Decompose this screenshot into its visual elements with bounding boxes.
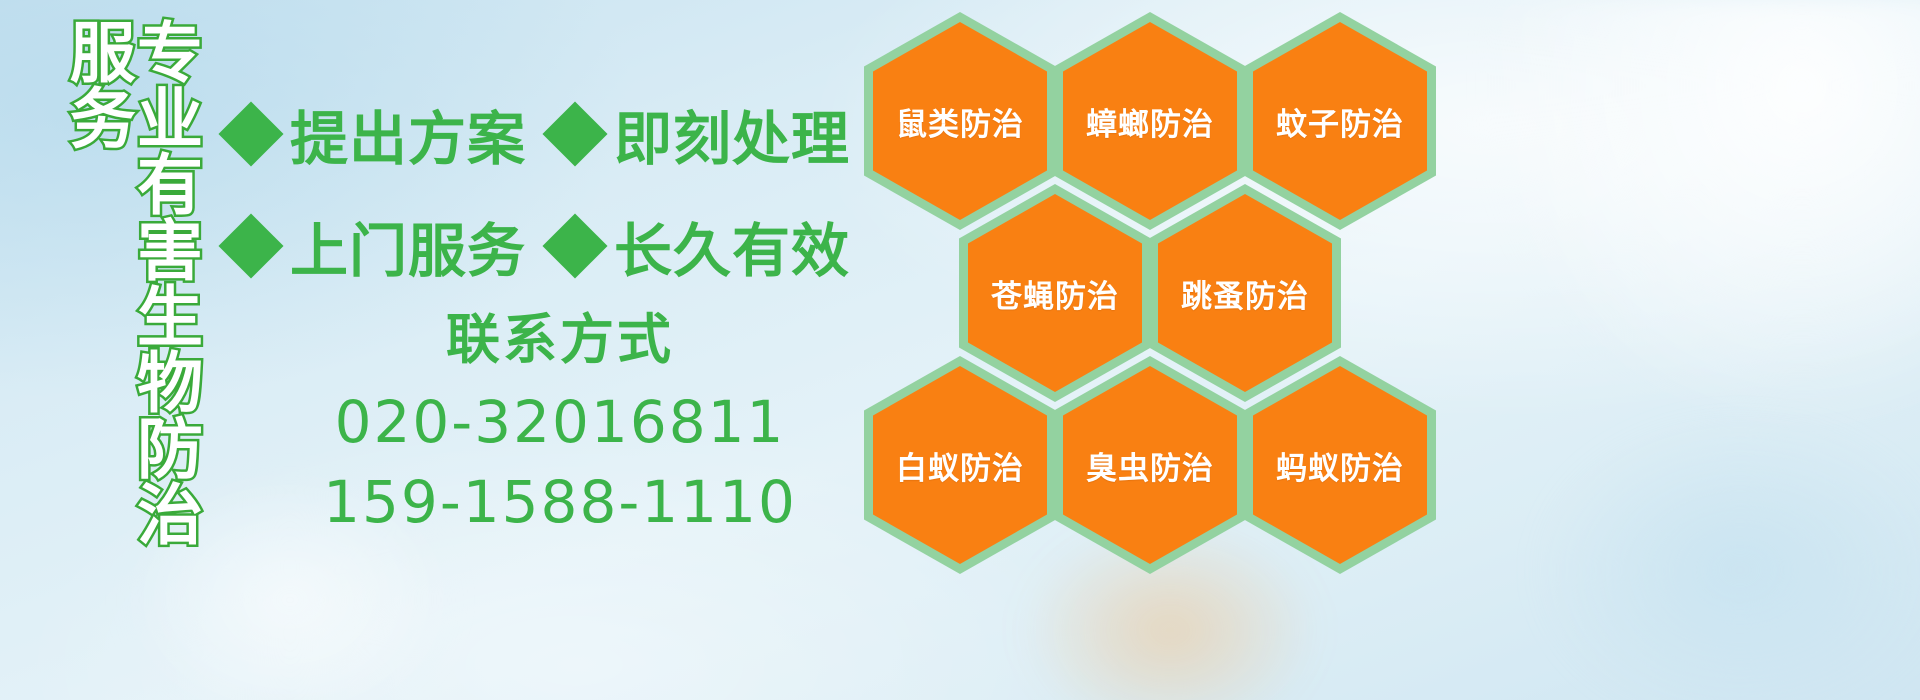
diamond-bullet-icon: [218, 101, 283, 166]
diamond-bullet-icon: [542, 101, 607, 166]
contact-phone-mobile[interactable]: 159-1588-1110: [250, 462, 870, 542]
feature-item-immediate-handling: 即刻处理: [552, 92, 850, 176]
background-glow-bottom-right: [1540, 420, 1920, 700]
service-hexagon-termite[interactable]: 白蚁防治: [864, 356, 1056, 574]
feature-item-long-lasting-effect: 长久有效: [552, 204, 850, 288]
diamond-bullet-icon: [542, 213, 607, 278]
service-hexagon-label: 蚂蚁防治: [1276, 443, 1404, 488]
background-glow-top-right: [1480, 0, 1920, 430]
service-hexagon-grid: 鼠类防治 蟑螂防治 蚊子防治 苍蝇防治 跳蚤防治 白蚁防治 臭虫防治 蚂蚁防治: [858, 4, 1458, 564]
service-hexagon-label: 臭虫防治: [1086, 443, 1214, 488]
vertical-headline: 专业有害生物防治服务: [106, 18, 198, 548]
feature-label: 长久有效: [614, 204, 850, 288]
service-hexagon-ant[interactable]: 蚂蚁防治: [1244, 356, 1436, 574]
diamond-bullet-icon: [218, 213, 283, 278]
feature-label: 提出方案: [290, 92, 526, 176]
feature-row: 提出方案 即刻处理: [228, 78, 868, 190]
service-hexagon-label: 苍蝇防治: [991, 271, 1119, 316]
service-hexagon-label: 蟑螂防治: [1086, 99, 1214, 144]
feature-label: 上门服务: [290, 204, 526, 288]
service-hexagon-label: 蚊子防治: [1276, 99, 1404, 144]
feature-label: 即刻处理: [614, 92, 850, 176]
feature-row: 上门服务 长久有效: [228, 190, 868, 302]
contact-phone-landline[interactable]: 020-32016811: [250, 382, 870, 462]
contact-title: 联系方式: [250, 306, 870, 374]
service-hexagon-label: 跳蚤防治: [1181, 271, 1309, 316]
contact-block: 联系方式 020-32016811 159-1588-1110: [250, 306, 870, 542]
feature-list: 提出方案 即刻处理 上门服务 长久有效: [228, 78, 868, 302]
service-hexagon-bedbug[interactable]: 臭虫防治: [1054, 356, 1246, 574]
service-hexagon-label: 鼠类防治: [896, 99, 1024, 144]
feature-item-propose-plan: 提出方案: [228, 92, 526, 176]
service-hexagon-label: 白蚁防治: [896, 443, 1024, 488]
feature-item-door-to-door-service: 上门服务: [228, 204, 526, 288]
